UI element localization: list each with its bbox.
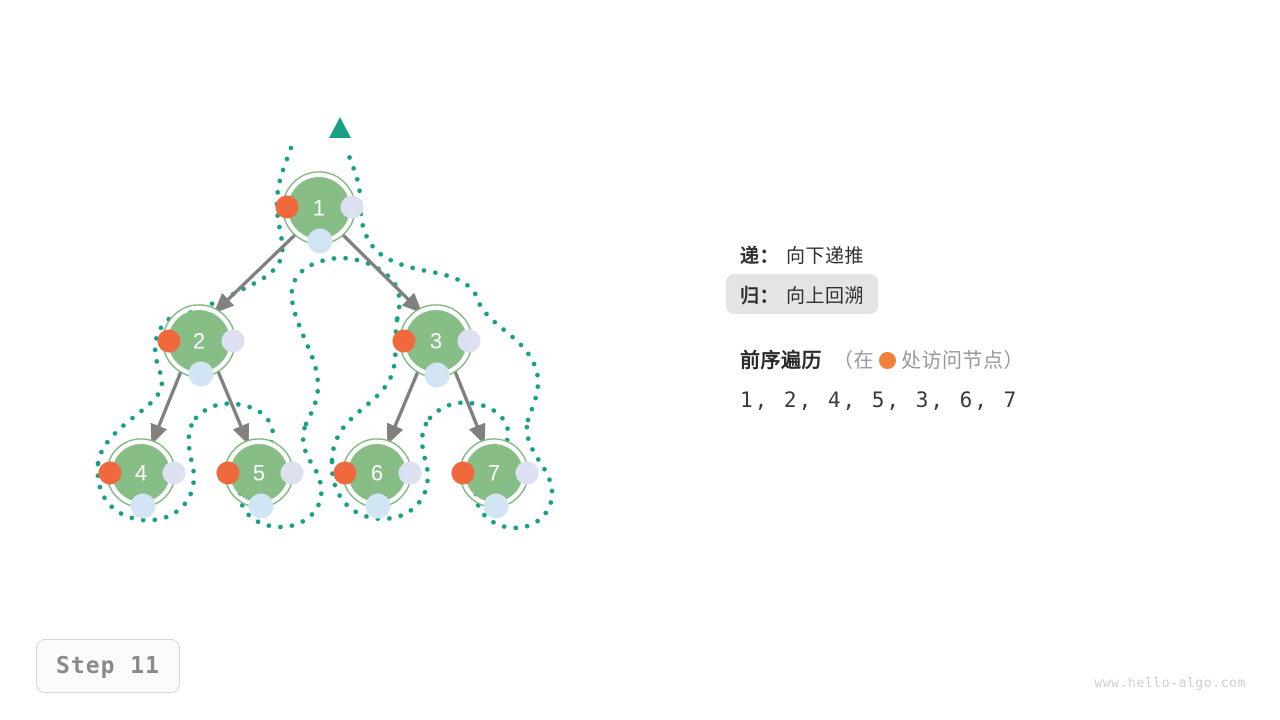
node-visit-dot-orange	[334, 462, 357, 485]
node-bottom-dot-blue	[308, 229, 333, 254]
edge-1-3	[341, 233, 421, 312]
traversal-title: 前序遍历	[740, 344, 822, 373]
tree-node-2[interactable]: 2	[158, 305, 245, 387]
node-visit-dot-orange	[452, 462, 475, 485]
recursion-path-n5-up-to-n3	[292, 258, 400, 424]
legend-row-recurse: 递： 向下递推	[726, 234, 878, 274]
traversal-note-prefix: （在	[833, 350, 874, 372]
tree-node-3[interactable]: 3	[393, 305, 481, 388]
legend-value-return: 向上回溯	[786, 281, 864, 308]
node-right-dot-lavender	[399, 462, 422, 485]
node-visit-dot-orange	[158, 330, 181, 353]
traversal-order-block: 前序遍历 （在处访问节点） 1, 2, 4, 5, 3, 6, 7	[726, 344, 1226, 412]
tree-node-7[interactable]: 7	[452, 439, 539, 519]
node-bottom-dot-blue	[425, 363, 450, 388]
node-label: 5	[253, 461, 265, 486]
legend-key-return: 归：	[740, 281, 779, 308]
legend-value-recurse: 向下递推	[786, 241, 864, 268]
edge-1-2	[215, 233, 297, 312]
node-bottom-dot-blue	[131, 494, 156, 519]
node-bottom-dot-blue	[249, 494, 274, 519]
node-right-dot-lavender	[281, 462, 304, 485]
node-right-dot-lavender	[516, 462, 539, 485]
node-right-dot-lavender	[222, 330, 245, 353]
node-visit-dot-orange	[393, 330, 416, 353]
node-bottom-dot-blue	[189, 362, 214, 387]
node-right-dot-lavender	[163, 462, 186, 485]
traversal-note: （在处访问节点）	[833, 344, 1024, 373]
node-visit-dot-orange	[217, 462, 240, 485]
node-label: 1	[313, 196, 325, 221]
node-label: 7	[488, 461, 500, 486]
step-badge: Step 11	[36, 639, 180, 693]
node-right-dot-lavender	[341, 196, 364, 219]
traversal-sequence: 1, 2, 4, 5, 3, 6, 7	[740, 388, 1226, 412]
edge-2-4	[152, 369, 182, 443]
node-right-dot-lavender	[458, 330, 481, 353]
node-label: 3	[430, 329, 442, 354]
watermark: www.hello-algo.com	[1094, 676, 1246, 691]
edge-3-7	[454, 369, 484, 443]
traversal-note-suffix: 处访问节点）	[901, 350, 1024, 372]
binary-tree-diagram: 1 2 3 4 5	[0, 0, 660, 600]
node-label: 4	[135, 461, 147, 486]
legend-key-recurse: 递：	[740, 241, 779, 268]
edge-2-5	[217, 369, 248, 443]
visit-marker-dot	[879, 352, 896, 369]
node-label: 6	[371, 461, 383, 486]
node-bottom-dot-blue	[366, 494, 391, 519]
node-label: 2	[193, 329, 205, 354]
node-visit-dot-orange	[276, 196, 299, 219]
recursion-pointer-triangle	[329, 117, 351, 138]
tree-node-5[interactable]: 5	[217, 439, 304, 519]
node-visit-dot-orange	[99, 462, 122, 485]
node-bottom-dot-blue	[484, 494, 509, 519]
legend-row-return: 归： 向上回溯	[726, 274, 878, 314]
edge-3-6	[388, 369, 419, 443]
traversal-title-line: 前序遍历 （在处访问节点）	[740, 344, 1226, 373]
info-panel: 递： 向下递推 归： 向上回溯 前序遍历 （在处访问节点） 1, 2, 4, 5…	[726, 234, 1226, 412]
